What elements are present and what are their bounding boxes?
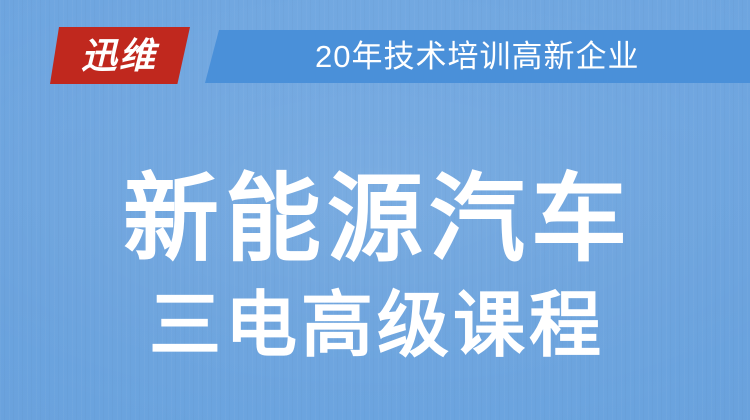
- tagline-banner: 20年技术培训高新企业: [205, 30, 750, 83]
- main-title: 新能源汽车: [0, 172, 750, 268]
- brand-logo-badge[interactable]: 迅维: [50, 27, 190, 84]
- promo-poster: 20年技术培训高新企业 迅维 新能源汽车 三电高级课程: [0, 0, 750, 420]
- subtitle: 三电高级课程: [0, 290, 750, 362]
- tagline-banner-text: 20年技术培训高新企业: [315, 41, 639, 72]
- brand-logo-text: 迅维: [81, 38, 157, 74]
